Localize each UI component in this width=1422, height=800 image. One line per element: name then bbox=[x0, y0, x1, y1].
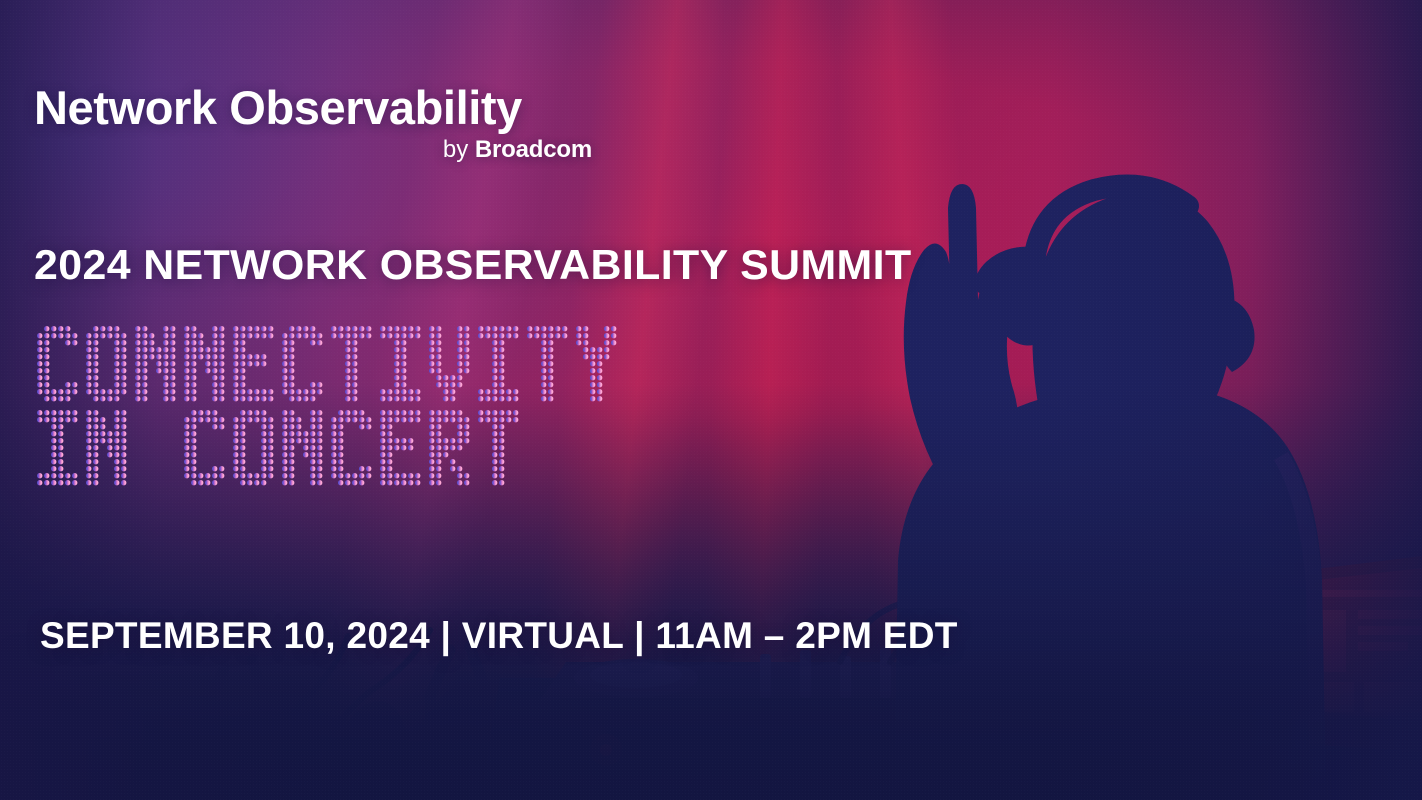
brand-logo: Network Observability by Broadcom bbox=[34, 84, 594, 163]
event-details: SEPTEMBER 10, 2024 | VIRTUAL | 11AM – 2P… bbox=[40, 615, 958, 657]
led-marquee-line-2 bbox=[36, 409, 617, 486]
brand-byline: by Broadcom bbox=[34, 137, 594, 163]
page-title: 2024 NETWORK OBSERVABILITY SUMMIT bbox=[34, 241, 912, 289]
banner-content: Network Observability by Broadcom 2024 N… bbox=[0, 0, 1422, 800]
led-marquee bbox=[36, 325, 617, 487]
byline-by-word: by bbox=[443, 136, 468, 163]
led-marquee-line-1 bbox=[36, 325, 617, 402]
event-promo-banner: Network Observability by Broadcom 2024 N… bbox=[0, 0, 1422, 800]
parent-brand: Broadcom bbox=[475, 136, 592, 163]
product-name: Network Observability bbox=[34, 84, 594, 133]
